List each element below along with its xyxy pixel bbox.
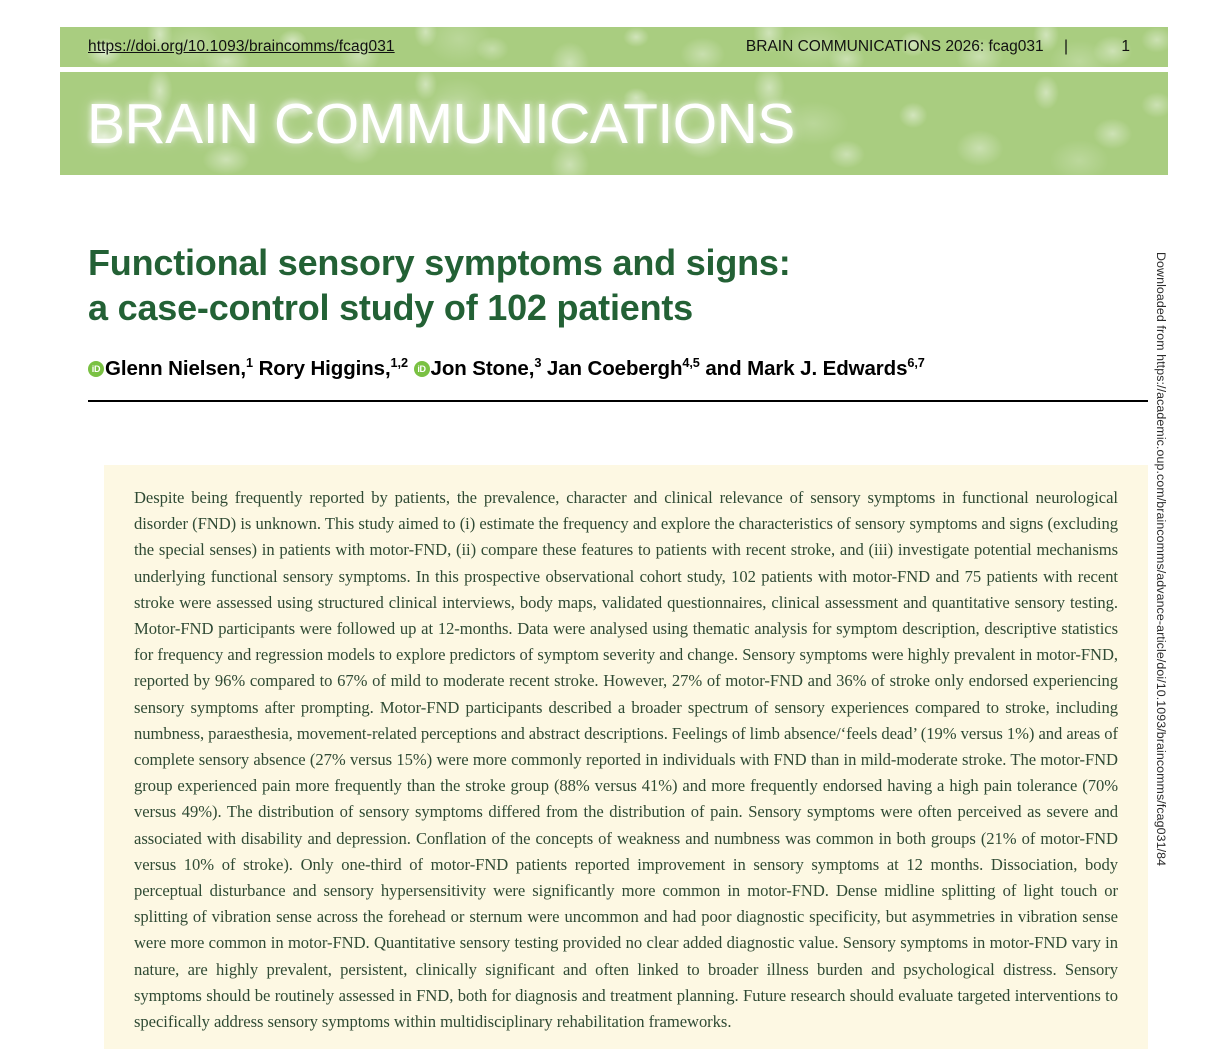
orcid-icon[interactable] (88, 361, 104, 377)
title-line-1: Functional sensory symptoms and signs: (88, 242, 791, 283)
page-number: 1 (1121, 38, 1130, 56)
doi-strip: https://doi.org/10.1093/braincomms/fcag0… (60, 27, 1168, 67)
title-line-2: a case-control study of 102 patients (88, 285, 1148, 330)
author-entry: Glenn Nielsen,1 (88, 357, 253, 380)
author-name[interactable]: Glenn Nielsen, (105, 357, 246, 380)
abstract-panel: Despite being frequently reported by pat… (104, 465, 1148, 1049)
journal-reference: BRAIN COMMUNICATIONS 2026: fcag031 | (746, 38, 1082, 56)
header-separator: | (1064, 38, 1068, 56)
author-entry: Rory Higgins,1,2 (259, 357, 408, 380)
author-name[interactable]: Jan Coebergh (547, 357, 683, 380)
header-divider (88, 400, 1148, 402)
journal-masthead: https://doi.org/10.1093/braincomms/fcag0… (60, 27, 1168, 175)
abstract-text: Despite being frequently reported by pat… (134, 485, 1118, 1035)
download-provenance-note: Downloaded from https://academic.oup.com… (1154, 252, 1168, 1042)
journal-banner: BRAIN COMMUNICATIONS (60, 72, 1168, 175)
author-affiliation: 4,5 (682, 355, 699, 370)
author-name[interactable]: Jon Stone, (431, 357, 535, 380)
orcid-icon[interactable] (414, 361, 430, 377)
author-name[interactable]: Mark J. Edwards (747, 357, 907, 380)
author-entry: Mark J. Edwards6,7 (747, 357, 925, 380)
journal-reference-text: BRAIN COMMUNICATIONS 2026: fcag031 (746, 38, 1044, 55)
author-affiliation: 1 (246, 355, 253, 370)
author-name[interactable]: Rory Higgins, (259, 357, 391, 380)
author-list: Glenn Nielsen,1 Rory Higgins,1,2 Jon Sto… (88, 355, 1148, 383)
journal-logo-title: BRAIN COMMUNICATIONS (87, 91, 795, 157)
author-entry: Jan Coebergh4,5 (547, 357, 700, 380)
doi-link[interactable]: https://doi.org/10.1093/braincomms/fcag0… (88, 38, 395, 56)
author-affiliation: 6,7 (907, 355, 924, 370)
page-title: Functional sensory symptoms and signs: a… (88, 240, 1148, 331)
author-affiliation: 1,2 (391, 355, 408, 370)
article-header: Functional sensory symptoms and signs: a… (88, 240, 1148, 410)
author-separator: and (700, 357, 747, 380)
author-entry: Jon Stone,3 (414, 357, 542, 380)
